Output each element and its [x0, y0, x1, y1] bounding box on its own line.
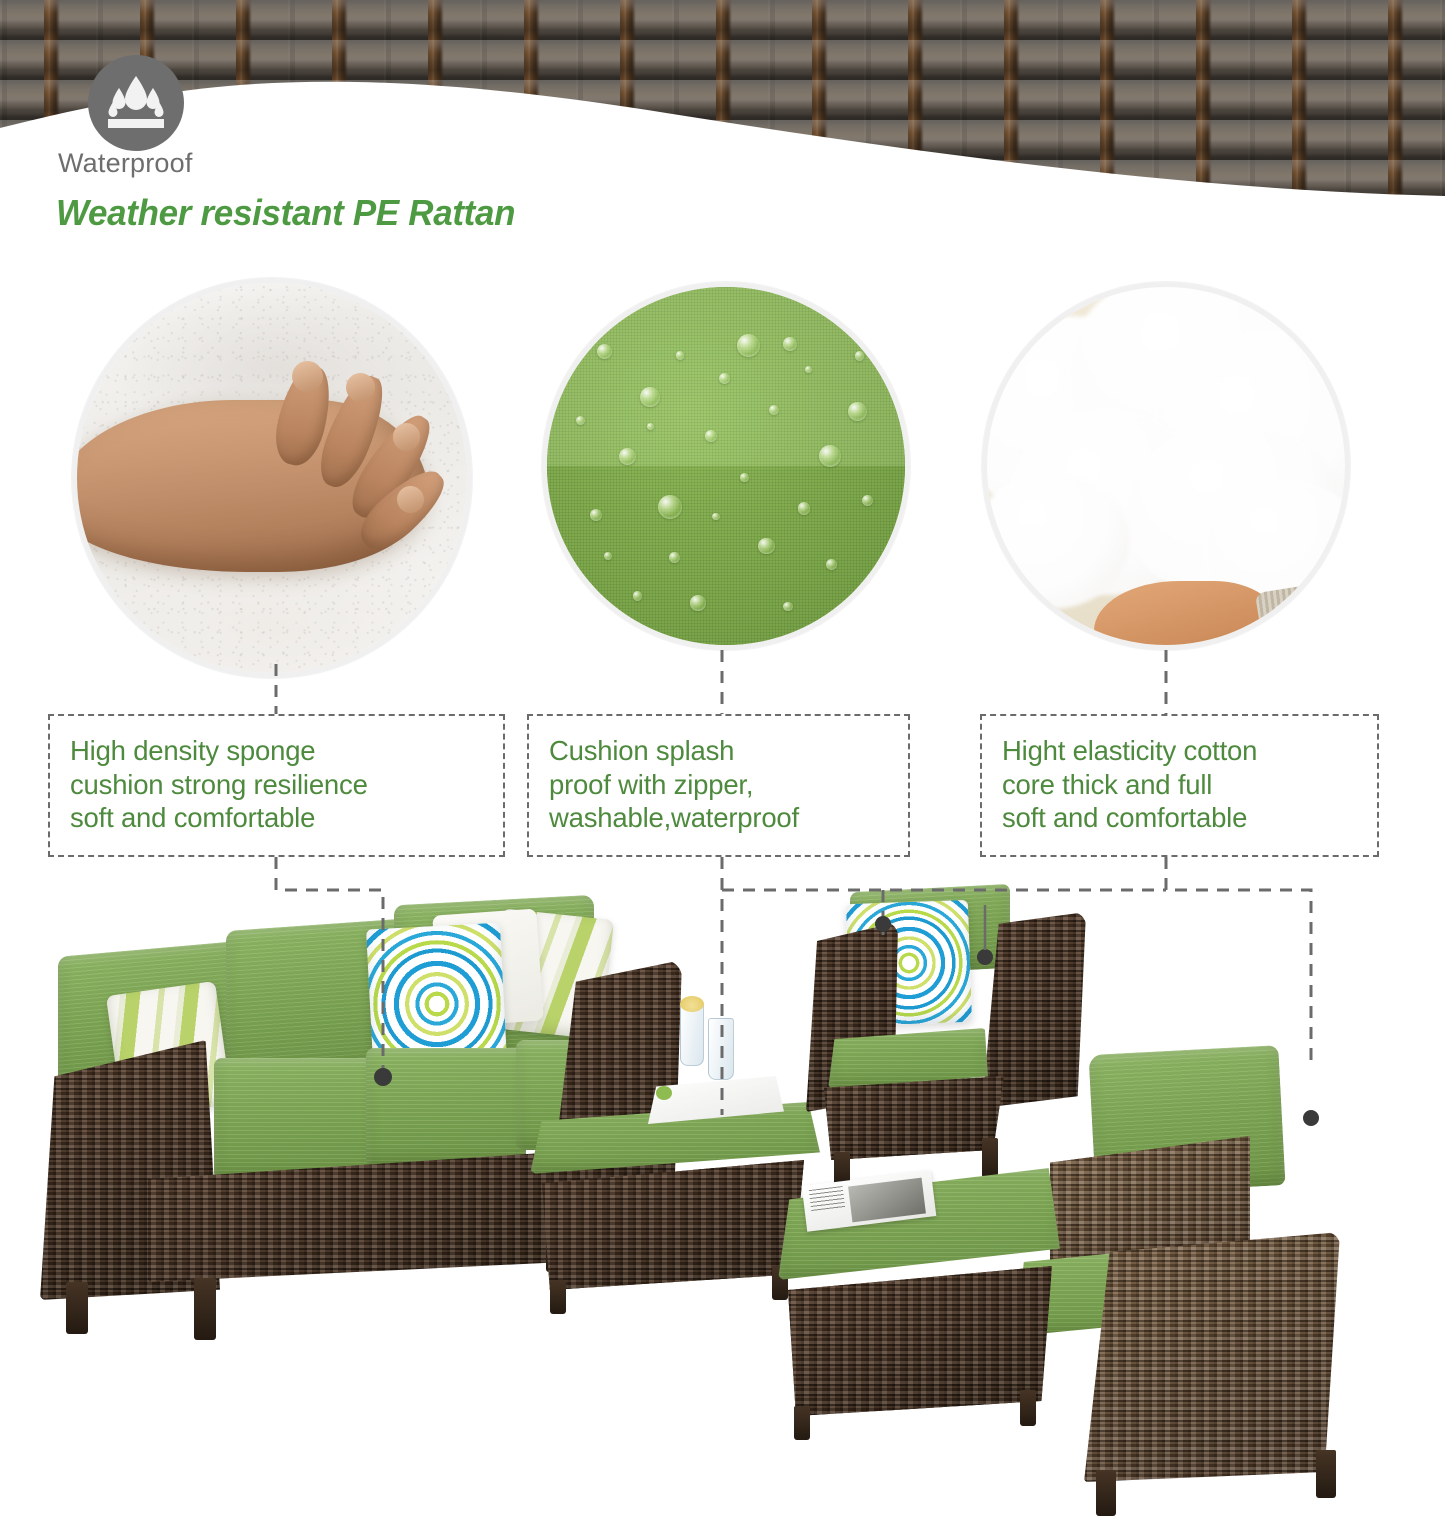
waterproof-droplets-icon [105, 74, 167, 132]
footstool-leg [794, 1406, 810, 1440]
footstool-leg [1020, 1390, 1036, 1426]
sofa-seat-cushion [214, 1058, 374, 1180]
callout-text: Hight elasticity cotton core thick and f… [1002, 734, 1257, 835]
ottoman-body [542, 1160, 804, 1290]
armchair-right [1050, 1050, 1445, 1445]
callout-text: High density sponge cushion strong resil… [70, 734, 368, 835]
callout-high-elasticity-cotton: Hight elasticity cotton core thick and f… [980, 714, 1379, 857]
sofa-leg [66, 1282, 88, 1334]
ottoman-coffee-table [530, 1090, 820, 1330]
feature-image-high-elasticity-cotton [982, 282, 1350, 650]
outdoor-furniture-scene [0, 880, 1445, 1445]
ottoman-leg [550, 1280, 566, 1314]
sleeve-cuff [1255, 583, 1328, 650]
sofa-seat-cushion [366, 1048, 526, 1166]
waterproof-badge [88, 55, 184, 151]
green-fabric-background [547, 287, 905, 645]
callout-cushion-splash-proof: Cushion splash proof with zipper, washab… [527, 714, 910, 857]
waterproof-label: Waterproof [58, 148, 193, 179]
armchair-base [824, 1076, 1004, 1160]
ottoman-footstool [778, 1168, 1078, 1448]
lime-garnish [656, 1086, 672, 1100]
lemon-slice [680, 996, 704, 1012]
callout-text: Cushion splash proof with zipper, washab… [549, 734, 799, 835]
footstool-body [788, 1266, 1052, 1416]
armchair-leg [1096, 1470, 1116, 1516]
magazine-text-lines [809, 1186, 845, 1212]
page-title: Weather resistant PE Rattan [56, 192, 515, 234]
armchair-leg [1316, 1450, 1336, 1498]
feature-image-high-density-sponge [72, 278, 472, 678]
feature-image-cushion-splash-proof [542, 282, 910, 650]
callout-high-density-sponge: High density sponge cushion strong resil… [48, 714, 505, 857]
sofa-leg [194, 1278, 216, 1340]
wine-glass [708, 1018, 734, 1080]
